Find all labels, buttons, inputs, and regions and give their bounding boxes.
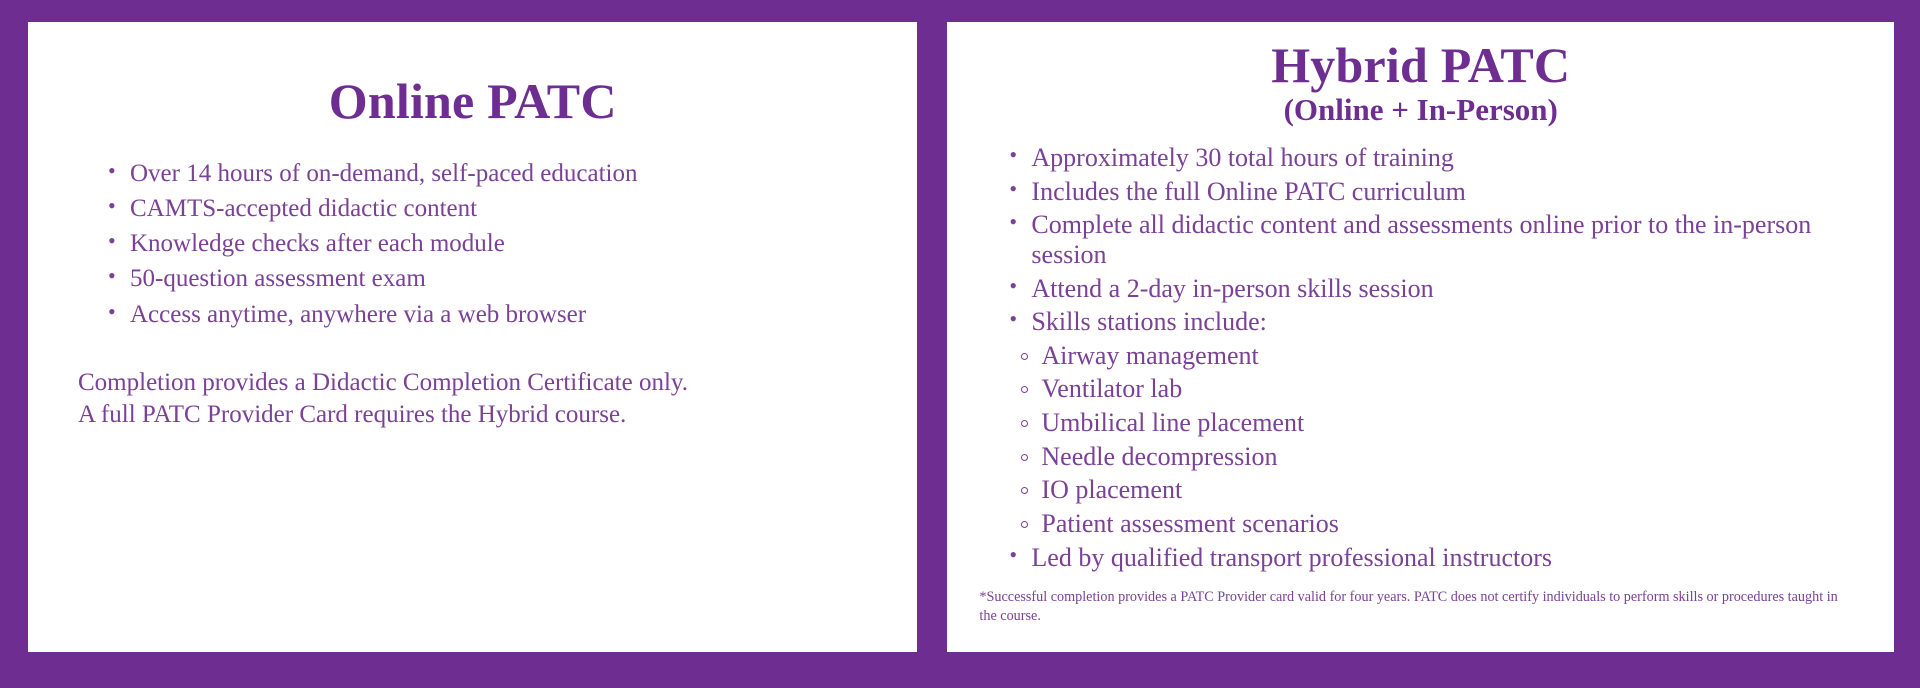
hybrid-patc-footnote: *Successful completion provides a PATC P…	[979, 588, 1849, 626]
list-item: 50-question assessment exam	[108, 264, 881, 293]
hybrid-patc-bullet-list: Approximately 30 total hours of training…	[977, 143, 1864, 337]
online-patc-card: Online PATC Over 14 hours of on-demand, …	[28, 22, 917, 652]
online-patc-note: Completion provides a Didactic Completio…	[78, 367, 881, 431]
list-item: Skills stations include:	[1009, 307, 1864, 337]
note-line: A full PATC Provider Card requires the H…	[78, 399, 881, 431]
online-patc-title: Online PATC	[64, 76, 881, 127]
skills-stations-list: Airway management Ventilator lab Umbilic…	[977, 341, 1864, 539]
note-line: Completion provides a Didactic Completio…	[78, 367, 881, 399]
online-patc-bullet-list: Over 14 hours of on-demand, self-paced e…	[64, 159, 881, 329]
hybrid-patc-closing-bullet-list: Led by qualified transport professional …	[977, 543, 1864, 573]
list-item: Attend a 2-day in-person skills session	[1009, 274, 1864, 304]
hybrid-patc-subtitle: (Online + In-Person)	[977, 93, 1864, 127]
list-item: IO placement	[1019, 475, 1864, 505]
list-item: Patient assessment scenarios	[1019, 509, 1864, 539]
list-item: Complete all didactic content and assess…	[1009, 210, 1864, 269]
list-item: CAMTS-accepted didactic content	[108, 194, 881, 223]
card-divider	[917, 22, 947, 652]
list-item: Needle decompression	[1019, 442, 1864, 472]
hybrid-patc-card: Hybrid PATC (Online + In-Person) Approxi…	[947, 22, 1894, 652]
hybrid-patc-title: Hybrid PATC	[977, 40, 1864, 91]
list-item: Knowledge checks after each module	[108, 229, 881, 258]
list-item: Led by qualified transport professional …	[1009, 543, 1864, 573]
slide-root: Online PATC Over 14 hours of on-demand, …	[0, 0, 1920, 688]
list-item: Access anytime, anywhere via a web brows…	[108, 300, 881, 329]
list-item: Airway management	[1019, 341, 1864, 371]
list-item: Includes the full Online PATC curriculum	[1009, 177, 1864, 207]
list-item: Over 14 hours of on-demand, self-paced e…	[108, 159, 881, 188]
list-item: Umbilical line placement	[1019, 408, 1864, 438]
list-item: Ventilator lab	[1019, 374, 1864, 404]
list-item: Approximately 30 total hours of training	[1009, 143, 1864, 173]
